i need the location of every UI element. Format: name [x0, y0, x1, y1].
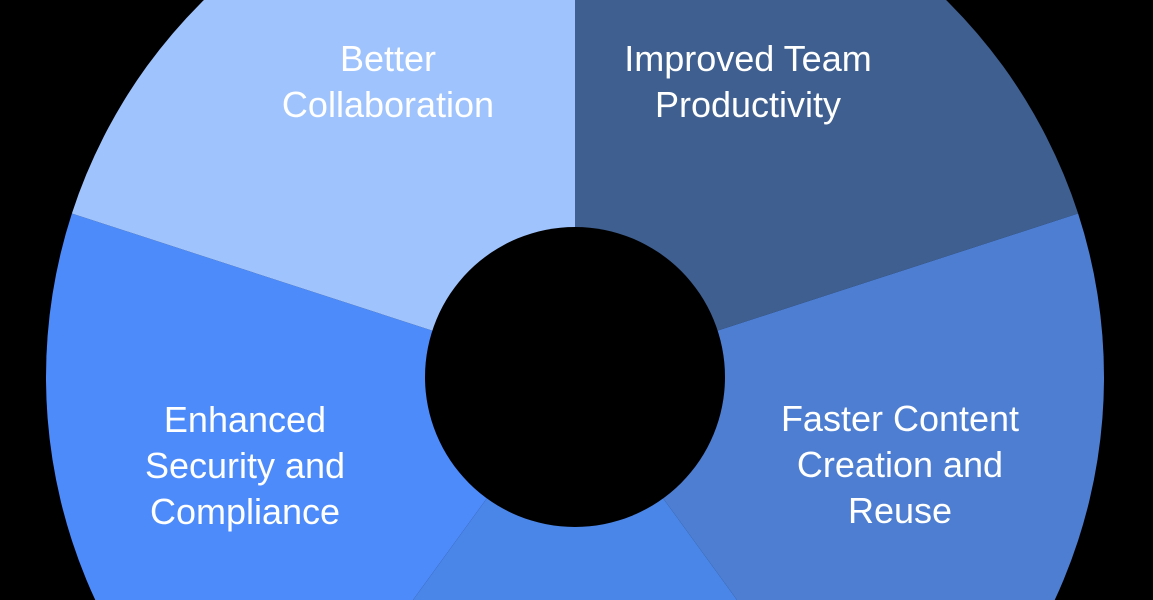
donut-center-hole — [425, 227, 725, 527]
donut-chart — [0, 0, 1153, 600]
diagram-canvas: Improved Team Productivity Faster Conten… — [0, 0, 1153, 600]
